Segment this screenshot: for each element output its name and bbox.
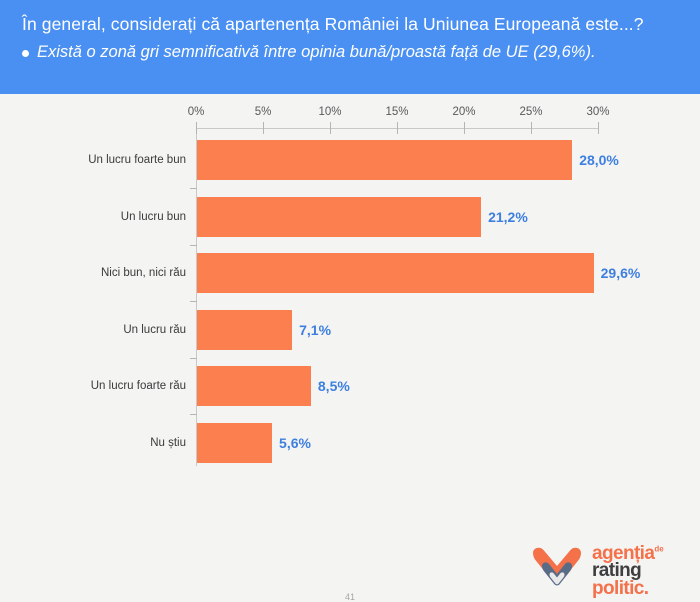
logo-line-2: rating [592, 562, 664, 580]
category-label: Un lucru bun [121, 211, 186, 223]
header-bullet-text: Există o zonă gri semnificativă între op… [37, 41, 596, 63]
category-label: Nu știu [150, 437, 186, 449]
x-tick [397, 122, 398, 134]
page-title: În general, considerați că apartenența R… [22, 12, 682, 37]
logo-text: agențiade rating politic. [592, 545, 664, 598]
bar-value-label: 29,6% [601, 265, 641, 281]
chart-container: 0%5%10%15%20%25%30% Un lucru foarte bun2… [0, 94, 700, 523]
logo-line-1: agențiade [592, 545, 664, 563]
x-tick-label: 30% [586, 106, 609, 118]
bar[interactable] [197, 366, 311, 406]
x-tick [598, 122, 599, 134]
agentia-de-rating-politic-logo: agențiade rating politic. [529, 543, 689, 599]
bar[interactable] [197, 140, 572, 180]
category-label: Un lucru foarte rău [91, 380, 186, 392]
bar-row: Nu știu5,6% [0, 423, 700, 463]
category-label: Nici bun, nici rău [101, 267, 186, 279]
bar[interactable] [197, 253, 594, 293]
bar-value-label: 8,5% [318, 378, 350, 394]
y-tick [190, 301, 197, 302]
bar-value-label: 21,2% [488, 209, 528, 225]
x-tick-label: 20% [452, 106, 475, 118]
x-tick-label: 10% [318, 106, 341, 118]
bar-row: Un lucru foarte bun28,0% [0, 140, 700, 180]
x-tick-label: 25% [519, 106, 542, 118]
bar[interactable] [197, 197, 481, 237]
x-tick [531, 122, 532, 134]
bar-value-label: 7,1% [299, 322, 331, 338]
bar-row: Un lucru foarte rău8,5% [0, 366, 700, 406]
x-tick-label: 0% [188, 106, 205, 118]
bar-chart-plot: 0%5%10%15%20%25%30% Un lucru foarte bun2… [0, 94, 700, 523]
y-tick [190, 358, 197, 359]
logo-mark-icon [529, 547, 585, 595]
logo-line-3: politic. [592, 580, 664, 598]
y-tick [190, 245, 197, 246]
bar[interactable] [197, 310, 292, 350]
logo-word-agentia: agenția [592, 543, 654, 564]
category-label: Un lucru foarte bun [88, 154, 186, 166]
logo-superscript-de: de [654, 544, 663, 553]
bar-value-label: 28,0% [579, 152, 619, 168]
x-tick [263, 122, 264, 134]
slide-header: În general, considerați că apartenența R… [0, 0, 700, 94]
x-tick-label: 15% [385, 106, 408, 118]
bar[interactable] [197, 423, 272, 463]
bar-value-label: 5,6% [279, 435, 311, 451]
category-label: Un lucru rău [123, 324, 186, 336]
header-bullet-row: Există o zonă gri semnificativă între op… [22, 41, 682, 63]
x-tick [196, 122, 197, 134]
bar-row: Un lucru rău7,1% [0, 310, 700, 350]
y-tick [190, 414, 197, 415]
bar-row: Nici bun, nici rău29,6% [0, 253, 700, 293]
x-tick [330, 122, 331, 134]
bullet-dot-icon [22, 50, 29, 57]
x-tick-label: 5% [255, 106, 272, 118]
x-tick [464, 122, 465, 134]
y-tick [190, 188, 197, 189]
bar-row: Un lucru bun21,2% [0, 197, 700, 237]
